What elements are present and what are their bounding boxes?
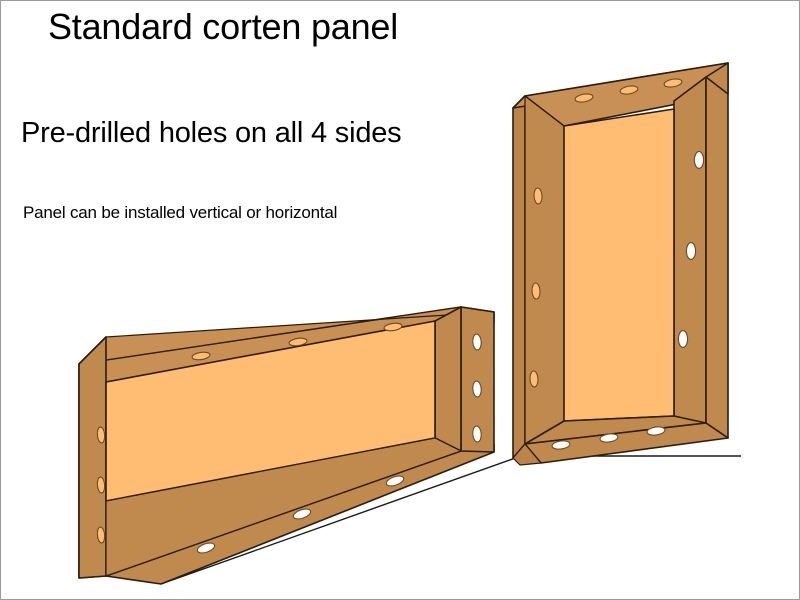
vertical-panel	[513, 63, 728, 465]
panel-illustration: .ol { stroke: #2b1d10; stroke-width: 1.6…	[1, 1, 800, 600]
horizontal-panel	[79, 307, 494, 584]
slide-canvas: .ol { stroke: #2b1d10; stroke-width: 1.6…	[0, 0, 800, 600]
subtitle-text: Pre-drilled holes on all 4 sides	[21, 115, 401, 151]
page-title: Standard corten panel	[48, 5, 398, 49]
vertical-panel-right-outer-band	[706, 77, 728, 438]
horizontal-panel-right-flange	[435, 307, 461, 451]
note-text: Panel can be installed vertical or horiz…	[23, 201, 337, 225]
vertical-panel-left-flange	[513, 96, 525, 458]
vertical-panel-face	[564, 109, 674, 421]
vertical-panel-left-inner-flange	[525, 96, 564, 444]
